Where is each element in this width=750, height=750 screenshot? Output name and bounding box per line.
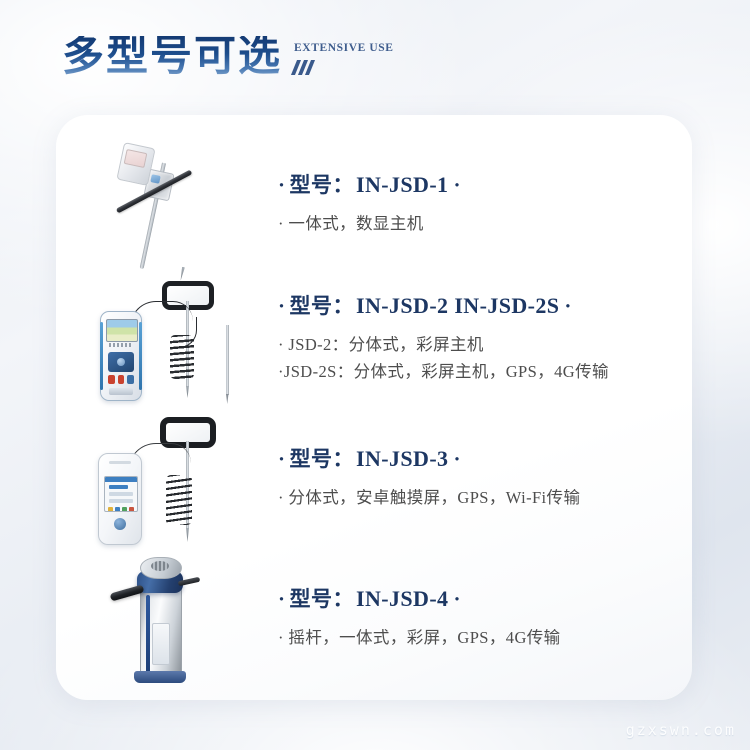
probe-button: [150, 174, 160, 184]
coiled-cable: [166, 475, 192, 525]
bullet-dot: ·: [278, 173, 286, 197]
meter-footer: [109, 388, 133, 395]
meter-side-strip-left: [100, 322, 103, 390]
product-spec: · JSD-2：分体式，彩屏主机: [278, 332, 692, 359]
bullet-dot: ·: [278, 294, 286, 318]
product-image-jsd-2: [56, 267, 268, 409]
spare-needle: [226, 325, 229, 395]
product-image-jsd-1: [56, 133, 268, 273]
spare-needle-tip: [226, 394, 229, 404]
model-line: ·型号：IN-JSD-4·: [278, 583, 692, 613]
instrument-seam-strip: [146, 595, 150, 673]
slash-decoration-icon: [294, 60, 312, 75]
product-image-jsd-4: [56, 545, 268, 690]
model-label: 型号：: [290, 447, 355, 471]
instrument-base: [134, 671, 186, 683]
bullet-dot-end: ·: [453, 587, 461, 611]
model-label: 型号：: [290, 173, 355, 197]
product-spec: · 一体式，数显主机: [278, 211, 692, 238]
product-spec: ·JSD-2S：分体式，彩屏主机，GPS，4G传输: [278, 359, 692, 386]
product-spec: · 摇杆，一体式，彩屏，GPS，4G传输: [278, 625, 692, 652]
model-label: 型号：: [290, 587, 355, 611]
site-watermark: gzxswn.com: [626, 721, 736, 739]
header-subtitle-group: EXTENSIVE USE: [294, 43, 394, 79]
home-button: [114, 518, 126, 530]
handheld-color-screen-illustration: [74, 273, 249, 403]
joystick-all-in-one-illustration: [104, 549, 224, 684]
handheld-meter-body: [100, 311, 142, 401]
page-title: 多型号可选: [62, 36, 282, 78]
model-code: IN-JSD-4: [356, 586, 448, 611]
page-root: 多型号可选 EXTENSIVE USE: [0, 0, 750, 750]
probe-tip: [186, 386, 189, 398]
android-handheld-body: [98, 453, 142, 545]
model-code: IN-JSD-3: [356, 446, 448, 471]
instrument-cap-inner: [151, 561, 169, 571]
bullet-dot: ·: [278, 447, 286, 471]
product-text-jsd-4: ·型号：IN-JSD-4· · 摇杆，一体式，彩屏，GPS，4G传输: [268, 583, 692, 652]
model-code: IN-JSD-2 IN-JSD-2S: [356, 293, 559, 318]
product-text-jsd-1: ·型号：IN-JSD-1· · 一体式，数显主机: [268, 169, 692, 238]
android-touch-screen: [104, 476, 138, 512]
product-image-jsd-3: [56, 407, 268, 547]
product-text-jsd-3: ·型号：IN-JSD-3· · 分体式，安卓触摸屏，GPS，Wi-Fi传输: [268, 443, 692, 512]
instrument-label: [152, 623, 170, 665]
product-spec: · 分体式，安卓触摸屏，GPS，Wi-Fi传输: [278, 485, 692, 512]
probe-tip: [186, 528, 189, 542]
android-touchscreen-unit-illustration: [74, 411, 249, 546]
product-row: ·型号：IN-JSD-1· · 一体式，数显主机: [56, 133, 692, 273]
product-text-jsd-2: ·型号：IN-JSD-2 IN-JSD-2S· · JSD-2：分体式，彩屏主机…: [268, 290, 692, 385]
model-line: ·型号：IN-JSD-3·: [278, 443, 692, 473]
product-list-card: ·型号：IN-JSD-1· · 一体式，数显主机: [56, 115, 692, 700]
product-row: ·型号：IN-JSD-2 IN-JSD-2S· · JSD-2：分体式，彩屏主机…: [56, 267, 692, 409]
bullet-dot: ·: [278, 587, 286, 611]
device-speaker-slot: [109, 461, 131, 464]
meter-brand-label: [109, 343, 133, 347]
bullet-dot-end: ·: [453, 447, 461, 471]
bullet-dot-end: ·: [453, 173, 461, 197]
page-header: 多型号可选 EXTENSIVE USE: [62, 36, 394, 78]
model-line: ·型号：IN-JSD-1·: [278, 169, 692, 199]
coiled-cable: [170, 335, 194, 379]
model-line: ·型号：IN-JSD-2 IN-JSD-2S·: [278, 290, 692, 320]
meter-color-screen: [106, 319, 138, 342]
product-row: ·型号：IN-JSD-4· · 摇杆，一体式，彩屏，GPS，4G传输: [56, 545, 692, 690]
meter-navigation-pad: [108, 352, 134, 372]
model-code: IN-JSD-1: [356, 172, 448, 197]
bullet-dot-end: ·: [564, 294, 572, 318]
model-label: 型号：: [290, 294, 355, 318]
meter-function-keys: [108, 375, 134, 384]
page-subtitle-en: EXTENSIVE USE: [294, 43, 394, 55]
product-row: ·型号：IN-JSD-3· · 分体式，安卓触摸屏，GPS，Wi-Fi传输: [56, 407, 692, 547]
t-handle-soil-probe-illustration: [94, 141, 214, 266]
meter-side-strip-right: [139, 322, 142, 390]
